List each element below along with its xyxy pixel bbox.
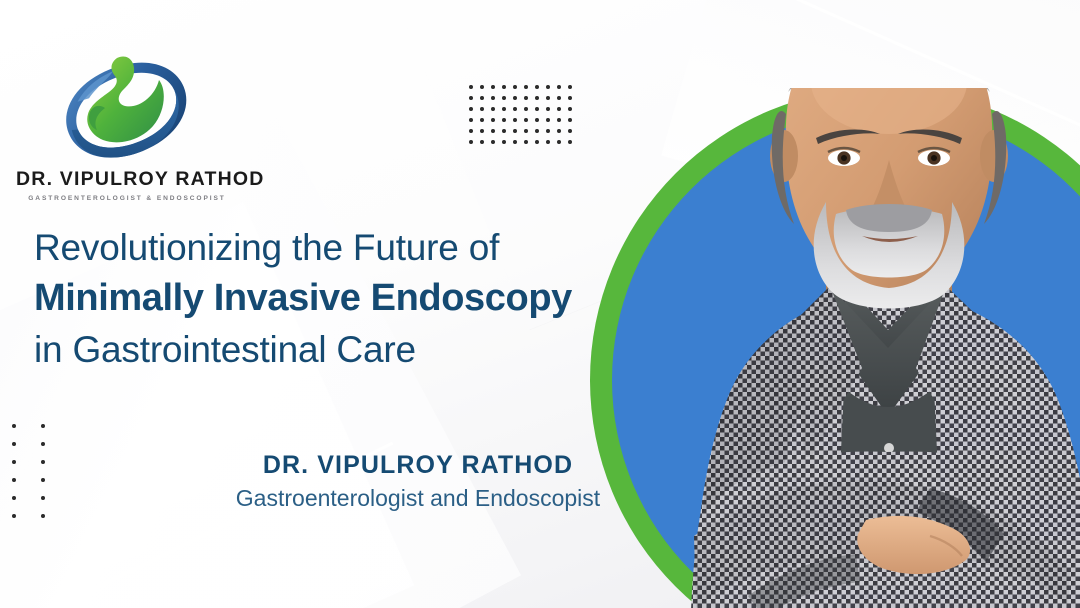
dot (557, 96, 561, 100)
dot (557, 85, 561, 89)
dot (557, 129, 561, 133)
dot (480, 140, 484, 144)
dot (557, 140, 561, 144)
dot (469, 107, 473, 111)
dot (568, 129, 572, 133)
dot (491, 96, 495, 100)
dot (568, 96, 572, 100)
dot (535, 85, 539, 89)
dot (41, 514, 45, 518)
doctor-portrait-image (630, 88, 1080, 608)
brand-logo[interactable]: DR. VIPULROY RATHOD GASTROENTEROLOGIST &… (16, 50, 238, 202)
dot (546, 96, 550, 100)
dot (568, 118, 572, 122)
dot (557, 118, 561, 122)
promo-banner: DR. VIPULROY RATHOD GASTROENTEROLOGIST &… (0, 0, 1080, 608)
dot (491, 85, 495, 89)
dot (513, 118, 517, 122)
headline: Revolutionizing the Future of Minimally … (34, 222, 674, 375)
dot (502, 96, 506, 100)
dot (546, 118, 550, 122)
dot (41, 424, 45, 428)
dot (502, 118, 506, 122)
presenter-role: Gastroenterologist and Endoscopist (118, 483, 718, 514)
dot (524, 96, 528, 100)
dot (502, 85, 506, 89)
dot (41, 442, 45, 446)
dot (546, 107, 550, 111)
dot (469, 96, 473, 100)
dot (546, 140, 550, 144)
dot (524, 140, 528, 144)
dot (535, 96, 539, 100)
dot (469, 140, 473, 144)
dot (469, 129, 473, 133)
dot (524, 85, 528, 89)
dot (491, 118, 495, 122)
dot (12, 460, 16, 464)
dot (12, 442, 16, 446)
dot (524, 118, 528, 122)
dot (491, 129, 495, 133)
dot-grid-left-decoration (12, 424, 45, 518)
dot (12, 496, 16, 500)
dot (524, 107, 528, 111)
logo-name-text: DR. VIPULROY RATHOD (16, 170, 238, 190)
dot (12, 424, 16, 428)
dot (469, 118, 473, 122)
dot (41, 460, 45, 464)
dot (491, 107, 495, 111)
presenter-name: DR. VIPULROY RATHOD (118, 450, 718, 481)
dot (535, 118, 539, 122)
dot (513, 96, 517, 100)
headline-line-2: Minimally Invasive Endoscopy (34, 273, 674, 324)
dot (546, 129, 550, 133)
dot (535, 107, 539, 111)
dot (557, 107, 561, 111)
dot (502, 129, 506, 133)
dot (568, 85, 572, 89)
dot (568, 140, 572, 144)
dot (502, 140, 506, 144)
dot (524, 129, 528, 133)
dot (535, 129, 539, 133)
dot (480, 96, 484, 100)
dot (513, 140, 517, 144)
dot (546, 85, 550, 89)
dot (480, 107, 484, 111)
dot (12, 514, 16, 518)
dot (513, 85, 517, 89)
dot-grid-top-decoration (469, 85, 572, 144)
headline-line-3: in Gastrointestinal Care (34, 324, 674, 375)
presenter-block: DR. VIPULROY RATHOD Gastroenterologist a… (118, 450, 718, 514)
dot (480, 118, 484, 122)
dot (513, 129, 517, 133)
dot (41, 478, 45, 482)
dot (502, 107, 506, 111)
dot (513, 107, 517, 111)
dot (491, 140, 495, 144)
dot (41, 496, 45, 500)
headline-line-1: Revolutionizing the Future of (34, 222, 674, 273)
logo-tagline-text: GASTROENTEROLOGIST & ENDOSCOPIST (16, 195, 238, 202)
dot (480, 129, 484, 133)
dot (12, 478, 16, 482)
dot (568, 107, 572, 111)
dot (480, 85, 484, 89)
stomach-swoosh-logo-icon (61, 50, 193, 162)
dot (535, 140, 539, 144)
dot (469, 85, 473, 89)
